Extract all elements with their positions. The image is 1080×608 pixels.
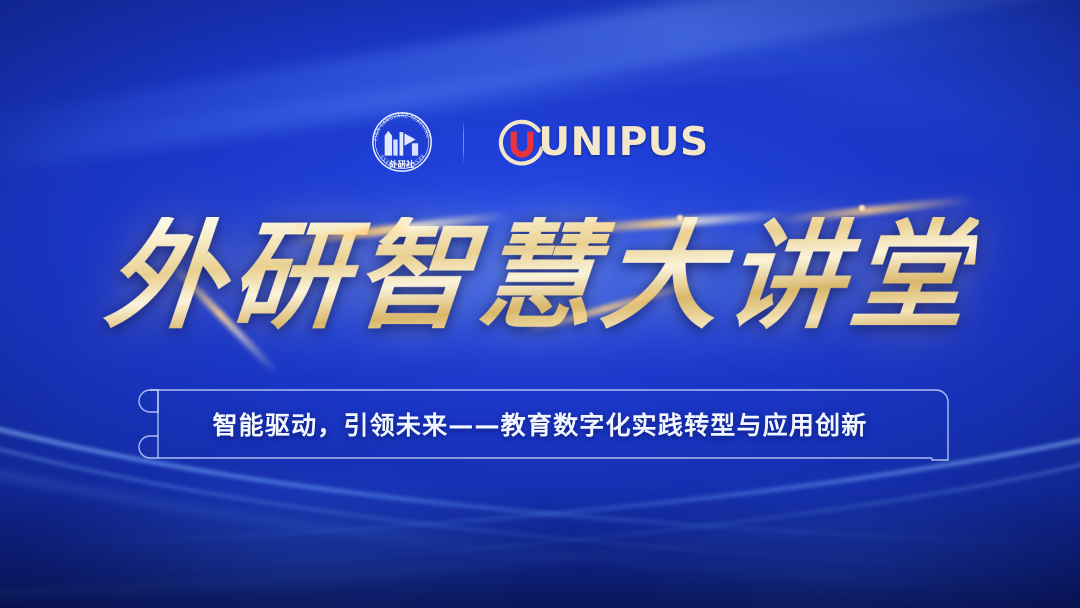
sparkle-icon — [296, 223, 304, 231]
fltrp-seal-logo: FOREIGN LANGUAGE TEACHING AND RESEARCH P… — [371, 111, 433, 173]
presentation-slide: FOREIGN LANGUAGE TEACHING AND RESEARCH P… — [0, 0, 1080, 608]
unipus-wordmark: UNIPUS — [538, 123, 708, 162]
sparkle-icon — [676, 214, 684, 222]
subtitle-text: 智能驱动，引领未来——教育数字化实践转型与应用创新 — [128, 406, 952, 442]
brand-logo-row: FOREIGN LANGUAGE TEACHING AND RESEARCH P… — [0, 104, 1080, 180]
svg-text:外研社: 外研社 — [389, 159, 415, 169]
subtitle-banner: 智能驱动，引领未来——教育数字化实践转型与应用创新 — [128, 386, 952, 462]
unipus-logo: UNIPUS — [496, 116, 708, 168]
page-title: 外研智慧大讲堂 — [101, 217, 979, 335]
sparkle-icon — [858, 204, 866, 212]
headline-container: 外研智慧大讲堂 — [0, 196, 1080, 356]
logo-divider — [463, 119, 464, 165]
